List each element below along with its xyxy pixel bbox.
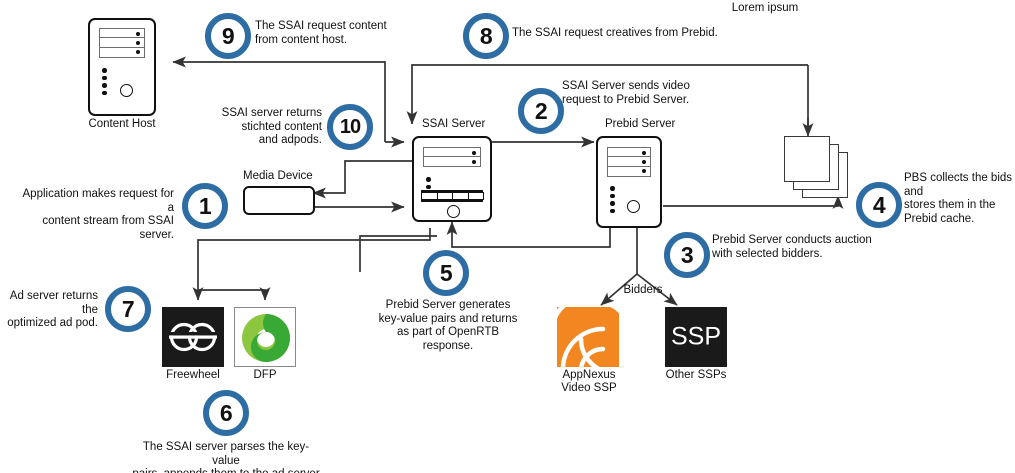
power-knob-icon	[627, 200, 640, 213]
dfp-logo-tile[interactable]	[234, 307, 296, 367]
step-badge-8[interactable]: 8	[463, 13, 509, 59]
ssai-drive-bays	[423, 147, 481, 166]
step-caption-9: The SSAI request content from content ho…	[255, 20, 445, 47]
content-host-label: Content Host	[79, 118, 165, 131]
diagram-canvas: Lorem ipsum Content Host SSAI Server	[0, 0, 1015, 473]
drive-bay	[607, 166, 651, 177]
step-badge-3[interactable]: 3	[664, 232, 710, 278]
prebid-cache-icon[interactable]	[784, 136, 856, 198]
step-badge-5[interactable]: 5	[423, 250, 469, 296]
other-ssps-logo-tile[interactable]: SSP	[665, 307, 727, 367]
step-badge-4[interactable]: 4	[856, 182, 902, 228]
content-host-icon[interactable]	[88, 18, 156, 116]
dfp-label: DFP	[234, 369, 296, 382]
freewheel-logo-tile[interactable]	[162, 307, 224, 367]
ssp-logo-text: SSP	[665, 323, 727, 352]
ssai-server-icon[interactable]	[412, 136, 492, 222]
expansion-slots	[421, 190, 483, 202]
step-caption-7: Ad server returns the optimized ad pod.	[0, 290, 98, 331]
other-ssps-label: Other SSPs	[659, 369, 733, 382]
step-badge-10[interactable]: 10	[327, 104, 373, 150]
step-caption-1: Application makes request for a content …	[14, 188, 174, 242]
power-knob-icon	[447, 205, 460, 218]
step-caption-3: Prebid Server conducts auction with sele…	[712, 234, 922, 261]
step-badge-2[interactable]: 2	[518, 88, 564, 134]
step-caption-2: SSAI Server sends video request to Prebi…	[562, 80, 762, 107]
step-caption-6: The SSAI server parses the key-value pai…	[130, 441, 322, 473]
status-leds	[102, 68, 107, 98]
prebid-drive-bays	[607, 147, 651, 175]
drive-bay	[423, 156, 481, 167]
dfp-icon	[235, 308, 296, 367]
appnexus-icon	[557, 307, 619, 367]
cache-page-front	[784, 136, 830, 182]
step-caption-4: PBS collects the bids and stores them in…	[904, 172, 1015, 226]
step-badge-6[interactable]: 6	[203, 390, 249, 436]
freewheel-icon	[162, 307, 224, 367]
ssai-server-label: SSAI Server	[422, 118, 512, 131]
step-caption-5: Prebid Server generates key-value pairs …	[373, 299, 523, 353]
step-caption-10: SSAI server returns stichted content and…	[200, 107, 322, 148]
media-device-label: Media Device	[243, 170, 343, 183]
appnexus-logo-tile[interactable]	[557, 307, 619, 367]
appnexus-label: AppNexus Video SSP	[545, 369, 633, 395]
power-knob-icon	[120, 84, 133, 97]
step-caption-8: The SSAI request creatives from Prebid.	[512, 27, 772, 41]
prebid-server-label: Prebid Server	[605, 118, 697, 131]
media-device-icon[interactable]	[243, 186, 315, 215]
content-host-drive-bays	[99, 28, 145, 56]
step-badge-7[interactable]: 7	[105, 286, 151, 332]
bidders-edge-label: Bidders	[613, 284, 673, 297]
step-badge-9[interactable]: 9	[205, 13, 251, 59]
drive-bay	[99, 47, 145, 58]
prebid-server-icon[interactable]	[596, 136, 662, 228]
diagram-title: Lorem ipsum	[690, 2, 840, 15]
status-leds	[610, 186, 615, 216]
freewheel-label: Freewheel	[155, 369, 231, 382]
step-badge-1[interactable]: 1	[182, 183, 228, 229]
